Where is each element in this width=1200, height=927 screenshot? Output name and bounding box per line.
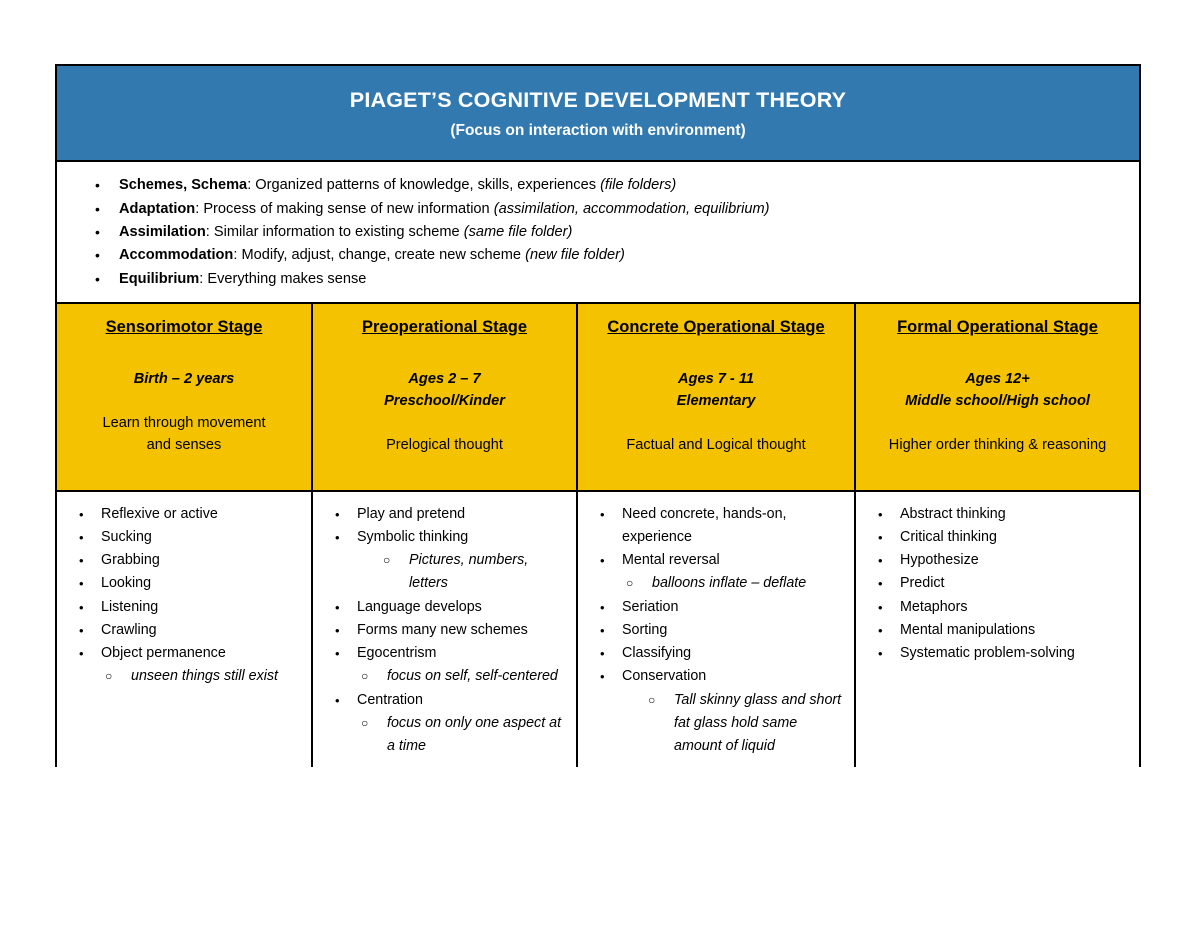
bullet-icon: • (335, 642, 340, 665)
stage-header-cell: Formal Operational StageAges 12+Middle s… (856, 304, 1139, 490)
bullet-icon: • (95, 221, 100, 244)
characteristic-item: •Conservation○Tall skinny glass and shor… (584, 665, 848, 758)
stage-description-line: Factual and Logical thought (586, 434, 846, 456)
stage-title: Concrete Operational Stage (586, 316, 846, 338)
characteristic-item: •Classifying (584, 642, 848, 665)
key-term-item: •Equilibrium: Everything makes sense (67, 268, 1129, 291)
characteristic-subitem: ○Pictures, numbers, letters (357, 549, 570, 595)
characteristic-item: •Grabbing (63, 549, 305, 572)
characteristic-label: Centration (357, 692, 423, 708)
key-term-example: (same file folder) (464, 224, 573, 240)
stage-header-cell: Preoperational StageAges 2 – 7Preschool/… (313, 304, 578, 490)
characteristic-label: Language develops (357, 599, 482, 615)
characteristic-item: •Forms many new schemes (319, 619, 570, 642)
characteristic-item: •Symbolic thinking○Pictures, numbers, le… (319, 526, 570, 596)
bullet-icon: • (600, 619, 605, 642)
stage-description-line: Higher order thinking & reasoning (864, 434, 1131, 456)
characteristics-inner: •Play and pretend•Symbolic thinking○Pict… (313, 492, 576, 767)
characteristic-subitem: ○focus on self, self-centered (357, 665, 570, 688)
characteristic-item: •Looking (63, 572, 305, 595)
bullet-icon: • (335, 596, 340, 619)
stage-age-line: Ages 2 – 7 (321, 368, 568, 390)
stage-age-line: Birth – 2 years (65, 368, 303, 390)
characteristic-label: Symbolic thinking (357, 529, 468, 545)
key-term-item: •Adaptation: Process of making sense of … (67, 198, 1129, 221)
key-term-name: Accommodation (119, 247, 233, 263)
characteristic-item: •Hypothesize (862, 549, 1133, 572)
characteristic-subitem-label: focus on self, self-centered (387, 668, 558, 684)
characteristic-item: •Need concrete, hands-on, experience (584, 503, 848, 549)
key-term-name: Assimilation (119, 224, 206, 240)
characteristic-item: •Metaphors (862, 596, 1133, 619)
characteristic-label: Seriation (622, 599, 678, 615)
characteristic-item: •Mental manipulations (862, 619, 1133, 642)
characteristic-label: Listening (101, 599, 158, 615)
bullet-icon: • (600, 665, 605, 688)
characteristic-label: Mental reversal (622, 552, 720, 568)
key-term-item: •Assimilation: Similar information to ex… (67, 221, 1129, 244)
stage-age-range: Ages 7 - 11Elementary (586, 368, 846, 412)
characteristic-subitem: ○Tall skinny glass and short fat glass h… (622, 689, 848, 759)
characteristic-item: •Predict (862, 572, 1133, 595)
characteristic-subitem-label: Pictures, numbers, letters (409, 552, 528, 591)
bullet-icon: • (95, 174, 100, 197)
hollow-bullet-icon: ○ (648, 689, 655, 712)
bullet-icon: • (878, 503, 883, 526)
characteristic-item: •Egocentrism○focus on self, self-centere… (319, 642, 570, 688)
characteristics-inner: •Need concrete, hands-on, experience•Men… (578, 492, 854, 767)
document-page: PIAGET’S COGNITIVE DEVELOPMENT THEORY (F… (0, 0, 1200, 927)
characteristic-item: •Mental reversal○balloons inflate – defl… (584, 549, 848, 595)
characteristic-subitem-label: focus on only one aspect at a time (387, 715, 561, 754)
characteristic-sublist: ○Tall skinny glass and short fat glass h… (622, 689, 848, 759)
characteristic-label: Sorting (622, 622, 667, 638)
stage-description: Prelogical thought (321, 434, 568, 456)
characteristics-inner: •Reflexive or active•Sucking•Grabbing•Lo… (57, 492, 311, 767)
bullet-icon: • (79, 549, 84, 572)
bullet-icon: • (79, 642, 84, 665)
stage-age-range: Ages 2 – 7Preschool/Kinder (321, 368, 568, 412)
characteristic-item: •Sorting (584, 619, 848, 642)
stage-characteristics-cell: •Abstract thinking•Critical thinking•Hyp… (856, 492, 1139, 767)
characteristic-label: Egocentrism (357, 645, 436, 661)
bullet-icon: • (600, 549, 605, 572)
characteristic-item: •Sucking (63, 526, 305, 549)
stage-school-level: Preschool/Kinder (321, 390, 568, 412)
characteristic-item: •Crawling (63, 619, 305, 642)
stage-description: Factual and Logical thought (586, 434, 846, 456)
key-term-item: •Accommodation: Modify, adjust, change, … (67, 244, 1129, 267)
characteristic-item: •Object permanence○unseen things still e… (63, 642, 305, 688)
characteristic-label: Sucking (101, 529, 152, 545)
characteristic-label: Critical thinking (900, 529, 997, 545)
stage-age-range: Birth – 2 years (65, 368, 303, 390)
bullet-icon: • (79, 526, 84, 549)
stage-header-inner: Concrete Operational StageAges 7 - 11Ele… (578, 304, 854, 490)
characteristic-sublist: ○Pictures, numbers, letters (357, 549, 570, 595)
key-terms-section: •Schemes, Schema: Organized patterns of … (57, 162, 1139, 303)
hollow-bullet-icon: ○ (361, 665, 368, 688)
characteristic-label: Reflexive or active (101, 506, 218, 522)
key-term-example: (assimilation, accommodation, equilibriu… (494, 201, 770, 217)
page-title: PIAGET’S COGNITIVE DEVELOPMENT THEORY (75, 88, 1121, 114)
page-subtitle: (Focus on interaction with environment) (75, 122, 1121, 141)
stage-characteristics-cell: •Need concrete, hands-on, experience•Men… (578, 492, 856, 767)
key-term-example: (new file folder) (525, 247, 625, 263)
characteristic-sublist: ○focus on only one aspect at a time (357, 712, 570, 758)
bullet-icon: • (600, 503, 605, 526)
stage-school-level: Middle school/High school (864, 390, 1131, 412)
characteristic-item: •Centration○focus on only one aspect at … (319, 689, 570, 759)
stage-header-inner: Formal Operational StageAges 12+Middle s… (856, 304, 1139, 490)
key-term-name: Equilibrium (119, 271, 199, 287)
key-term-separator: : (206, 224, 214, 240)
characteristics-list: •Reflexive or active•Sucking•Grabbing•Lo… (63, 503, 305, 689)
characteristic-item: •Language develops (319, 596, 570, 619)
characteristic-item: •Reflexive or active (63, 503, 305, 526)
bullet-icon: • (79, 619, 84, 642)
stage-characteristics-cell: •Reflexive or active•Sucking•Grabbing•Lo… (57, 492, 313, 767)
characteristic-label: Classifying (622, 645, 691, 661)
characteristic-label: Hypothesize (900, 552, 979, 568)
characteristic-subitem-label: Tall skinny glass and short fat glass ho… (674, 692, 841, 754)
bullet-icon: • (878, 642, 883, 665)
characteristic-label: Play and pretend (357, 506, 465, 522)
characteristic-label: Grabbing (101, 552, 160, 568)
characteristics-inner: •Abstract thinking•Critical thinking•Hyp… (856, 492, 1139, 767)
characteristics-list: •Abstract thinking•Critical thinking•Hyp… (862, 503, 1133, 665)
bullet-icon: • (79, 596, 84, 619)
bullet-icon: • (79, 572, 84, 595)
stage-description-line: and senses (65, 434, 303, 456)
characteristic-label: Crawling (101, 622, 157, 638)
characteristic-label: Systematic problem-solving (900, 645, 1075, 661)
characteristic-label: Metaphors (900, 599, 968, 615)
stage-title: Formal Operational Stage (864, 316, 1131, 338)
stage-age-line: Ages 7 - 11 (586, 368, 846, 390)
bullet-icon: • (878, 619, 883, 642)
stage-header-cell: Sensorimotor StageBirth – 2 yearsLearn t… (57, 304, 313, 490)
stage-title: Sensorimotor Stage (65, 316, 303, 338)
characteristic-label: Object permanence (101, 645, 226, 661)
characteristic-subitem: ○balloons inflate – deflate (622, 572, 848, 595)
bullet-icon: • (878, 549, 883, 572)
characteristic-label: Predict (900, 575, 945, 591)
stage-age-line: Ages 12+ (864, 368, 1131, 390)
stage-description: Learn through movementand senses (65, 412, 303, 456)
stage-age-range: Ages 12+Middle school/High school (864, 368, 1131, 412)
bullet-icon: • (335, 526, 340, 549)
key-term-name: Adaptation (119, 201, 195, 217)
bullet-icon: • (878, 572, 883, 595)
stage-characteristics-cell: •Play and pretend•Symbolic thinking○Pict… (313, 492, 578, 767)
hollow-bullet-icon: ○ (383, 549, 390, 572)
characteristic-label: Need concrete, hands-on, experience (622, 506, 787, 545)
hollow-bullet-icon: ○ (361, 712, 368, 735)
bullet-icon: • (335, 503, 340, 526)
stage-headers-row: Sensorimotor StageBirth – 2 yearsLearn t… (57, 304, 1139, 492)
characteristic-label: Looking (101, 575, 151, 591)
characteristic-sublist: ○focus on self, self-centered (357, 665, 570, 688)
key-term-description: Similar information to existing scheme (214, 224, 464, 240)
bullet-icon: • (79, 503, 84, 526)
key-term-item: •Schemes, Schema: Organized patterns of … (67, 174, 1129, 197)
stage-header-inner: Sensorimotor StageBirth – 2 yearsLearn t… (57, 304, 311, 490)
stage-header-inner: Preoperational StageAges 2 – 7Preschool/… (313, 304, 576, 490)
bullet-icon: • (878, 526, 883, 549)
key-term-name: Schemes, Schema (119, 177, 247, 193)
key-term-description: Everything makes sense (207, 271, 366, 287)
characteristic-label: Forms many new schemes (357, 622, 528, 638)
key-term-example: (file folders) (600, 177, 676, 193)
characteristics-list: •Need concrete, hands-on, experience•Men… (584, 503, 848, 758)
stage-description-line: Learn through movement (65, 412, 303, 434)
key-term-description: Process of making sense of new informati… (203, 201, 493, 217)
characteristic-subitem: ○focus on only one aspect at a time (357, 712, 570, 758)
characteristic-item: •Critical thinking (862, 526, 1133, 549)
characteristic-label: Abstract thinking (900, 506, 1006, 522)
stage-characteristics-row: •Reflexive or active•Sucking•Grabbing•Lo… (57, 492, 1139, 767)
stage-title: Preoperational Stage (321, 316, 568, 338)
key-term-description: Modify, adjust, change, create new schem… (241, 247, 525, 263)
characteristic-label: Conservation (622, 668, 706, 684)
bullet-icon: • (95, 198, 100, 221)
stage-description: Higher order thinking & reasoning (864, 434, 1131, 456)
bullet-icon: • (95, 268, 100, 291)
bullet-icon: • (600, 596, 605, 619)
bullet-icon: • (878, 596, 883, 619)
key-terms-list: •Schemes, Schema: Organized patterns of … (67, 174, 1129, 290)
hollow-bullet-icon: ○ (626, 572, 633, 595)
characteristic-item: •Play and pretend (319, 503, 570, 526)
characteristic-item: •Listening (63, 596, 305, 619)
table-title-band: PIAGET’S COGNITIVE DEVELOPMENT THEORY (F… (57, 66, 1139, 162)
piaget-theory-table: PIAGET’S COGNITIVE DEVELOPMENT THEORY (F… (55, 64, 1141, 767)
characteristic-subitem: ○unseen things still exist (101, 665, 305, 688)
hollow-bullet-icon: ○ (105, 665, 112, 688)
stage-school-level: Elementary (586, 390, 846, 412)
stage-header-cell: Concrete Operational StageAges 7 - 11Ele… (578, 304, 856, 490)
bullet-icon: • (600, 642, 605, 665)
characteristic-item: •Abstract thinking (862, 503, 1133, 526)
characteristic-subitem-label: unseen things still exist (131, 668, 278, 684)
bullet-icon: • (335, 689, 340, 712)
characteristic-item: •Systematic problem-solving (862, 642, 1133, 665)
characteristics-list: •Play and pretend•Symbolic thinking○Pict… (319, 503, 570, 758)
characteristic-subitem-label: balloons inflate – deflate (652, 575, 806, 591)
stage-description-line: Prelogical thought (321, 434, 568, 456)
characteristic-item: •Seriation (584, 596, 848, 619)
characteristic-label: Mental manipulations (900, 622, 1035, 638)
bullet-icon: • (95, 244, 100, 267)
bullet-icon: • (335, 619, 340, 642)
characteristic-sublist: ○balloons inflate – deflate (622, 572, 848, 595)
key-term-description: Organized patterns of knowledge, skills,… (255, 177, 600, 193)
characteristic-sublist: ○unseen things still exist (101, 665, 305, 688)
